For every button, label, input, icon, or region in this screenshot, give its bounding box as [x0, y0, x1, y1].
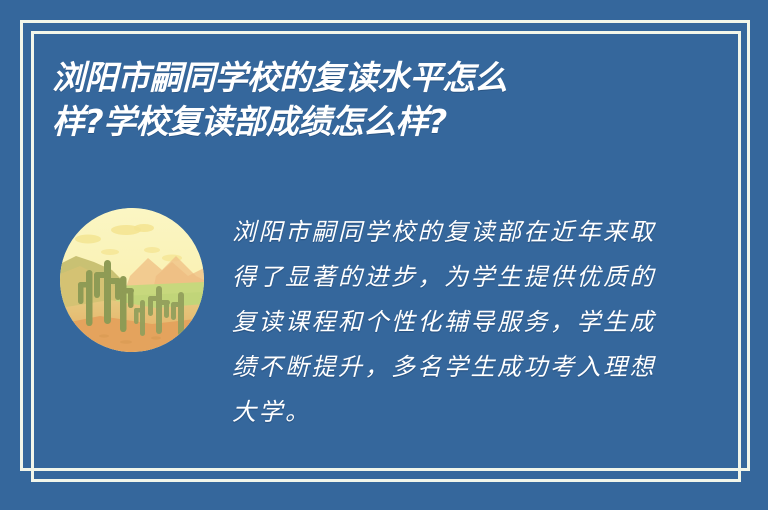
title-line-2: 样?学校复读部成绩怎么样?	[52, 100, 692, 144]
content-area: 浏阳市嗣同学校的复读部在近年来取得了显著的进步，为学生提供优质的复读课程和个性化…	[52, 200, 712, 450]
title-line-1: 浏阳市嗣同学校的复读水平怎么	[52, 56, 692, 100]
body-paragraph: 浏阳市嗣同学校的复读部在近年来取得了显著的进步，为学生提供优质的复读课程和个性化…	[232, 210, 662, 435]
page-title: 浏阳市嗣同学校的复读水平怎么 样?学校复读部成绩怎么样?	[52, 56, 692, 144]
poster-canvas: 浏阳市嗣同学校的复读水平怎么 样?学校复读部成绩怎么样?	[0, 0, 768, 510]
desert-scene-svg	[60, 208, 204, 352]
desert-cactus-illustration	[60, 208, 204, 352]
